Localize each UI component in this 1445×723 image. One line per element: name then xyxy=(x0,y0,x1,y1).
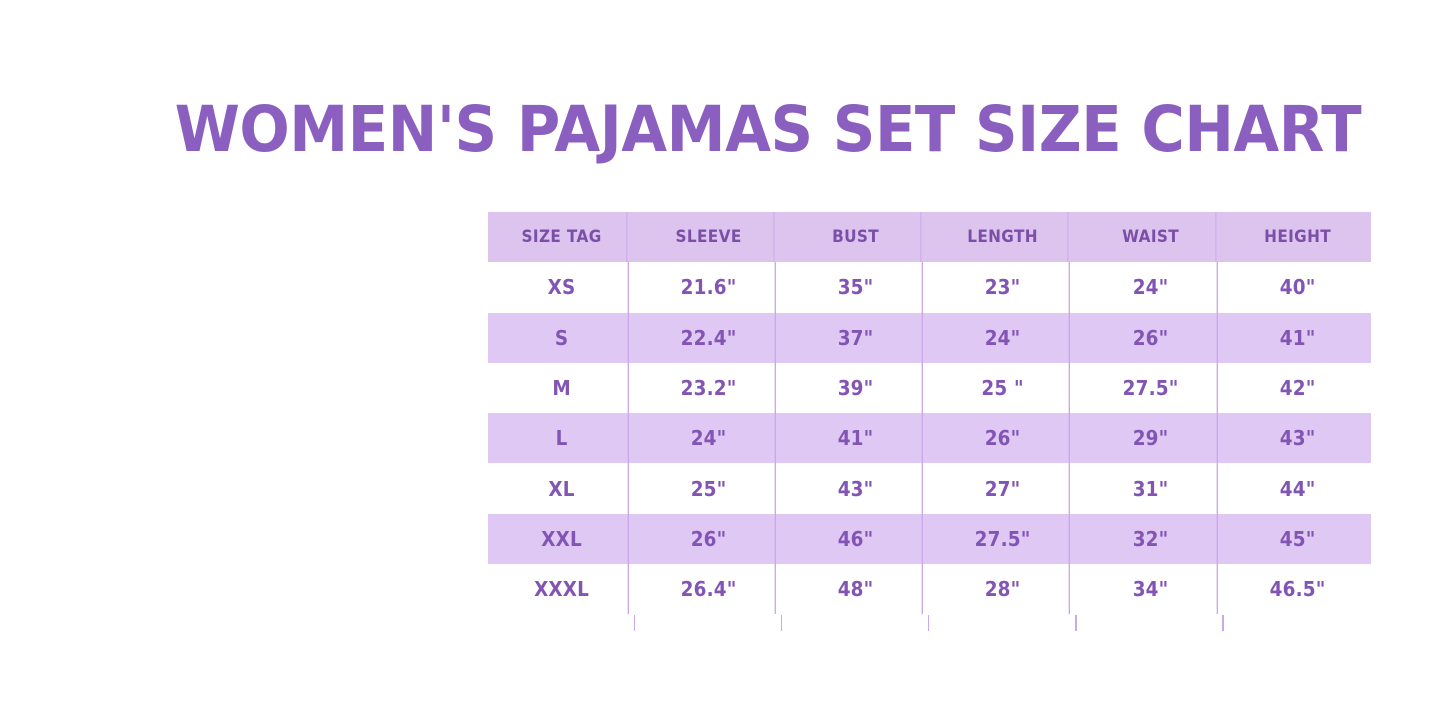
cell-sleeve: 22.4" xyxy=(641,313,776,363)
cell-bust: 39" xyxy=(788,363,923,413)
table-row: L 24" 41" 26" 29" 43" xyxy=(488,413,1371,463)
cell-waist: 32" xyxy=(1083,514,1218,564)
cell-sleeve: 26" xyxy=(641,514,776,564)
cell-sleeve: 26.4" xyxy=(641,564,776,614)
cell-size-tag: XXXL xyxy=(494,564,629,614)
cell-sleeve: 21.6" xyxy=(641,262,776,312)
column-header-waist: WAIST xyxy=(1084,212,1216,262)
cell-bust: 43" xyxy=(788,463,923,513)
cell-length: 24" xyxy=(935,313,1070,363)
cell-bust: 46" xyxy=(788,514,923,564)
column-header-length: LENGTH xyxy=(937,212,1069,262)
cell-height: 43" xyxy=(1230,413,1365,463)
cell-height: 44" xyxy=(1230,463,1365,513)
table-body: XS 21.6" 35" 23" 24" 40" S 22.4" 37" 24"… xyxy=(488,262,1371,614)
column-header-height: HEIGHT xyxy=(1231,212,1363,262)
column-header-size-tag: SIZE TAG xyxy=(495,212,627,262)
cell-bust: 48" xyxy=(788,564,923,614)
cell-bust: 35" xyxy=(788,262,923,312)
table-header: SIZE TAG SLEEVE BUST LENGTH WAIST HEIGHT xyxy=(488,212,1371,262)
cell-height: 45" xyxy=(1230,514,1365,564)
size-chart-page: WOMEN'S PAJAMAS SET SIZE CHART SIZE TAG … xyxy=(0,0,1445,723)
cell-waist: 26" xyxy=(1083,313,1218,363)
cell-length: 23" xyxy=(935,262,1070,312)
cell-length: 28" xyxy=(935,564,1070,614)
cell-length: 27.5" xyxy=(935,514,1070,564)
cell-sleeve: 24" xyxy=(641,413,776,463)
cell-size-tag: S xyxy=(494,313,629,363)
cell-height: 46.5" xyxy=(1230,564,1365,614)
cell-length: 26" xyxy=(935,413,1070,463)
cell-length: 25 " xyxy=(935,363,1070,413)
cell-bust: 37" xyxy=(788,313,923,363)
cell-size-tag: XS xyxy=(494,262,629,312)
column-header-bust: BUST xyxy=(790,212,922,262)
cell-size-tag: XXL xyxy=(494,514,629,564)
cell-bust: 41" xyxy=(788,413,923,463)
cell-size-tag: M xyxy=(494,363,629,413)
cell-sleeve: 23.2" xyxy=(641,363,776,413)
cell-size-tag: L xyxy=(494,413,629,463)
cell-waist: 27.5" xyxy=(1083,363,1218,413)
cell-height: 42" xyxy=(1230,363,1365,413)
table-row: XS 21.6" 35" 23" 24" 40" xyxy=(488,262,1371,312)
table-row: M 23.2" 39" 25 " 27.5" 42" xyxy=(488,363,1371,413)
page-title: WOMEN'S PAJAMAS SET SIZE CHART xyxy=(83,98,1380,161)
table-row: XL 25" 43" 27" 31" 44" xyxy=(488,463,1371,513)
size-chart-table-container: SIZE TAG SLEEVE BUST LENGTH WAIST HEIGHT… xyxy=(488,212,1371,614)
column-header-sleeve: SLEEVE xyxy=(643,212,775,262)
table-row: S 22.4" 37" 24" 26" 41" xyxy=(488,313,1371,363)
cell-size-tag: XL xyxy=(494,463,629,513)
cell-height: 41" xyxy=(1230,313,1365,363)
cell-height: 40" xyxy=(1230,262,1365,312)
cell-waist: 29" xyxy=(1083,413,1218,463)
header-row: SIZE TAG SLEEVE BUST LENGTH WAIST HEIGHT xyxy=(488,212,1371,262)
cell-waist: 34" xyxy=(1083,564,1218,614)
size-chart-table: SIZE TAG SLEEVE BUST LENGTH WAIST HEIGHT… xyxy=(488,212,1371,614)
cell-waist: 31" xyxy=(1083,463,1218,513)
table-row: XXXL 26.4" 48" 28" 34" 46.5" xyxy=(488,564,1371,614)
table-divider-tails xyxy=(488,615,1371,631)
cell-length: 27" xyxy=(935,463,1070,513)
cell-waist: 24" xyxy=(1083,262,1218,312)
cell-sleeve: 25" xyxy=(641,463,776,513)
table-row: XXL 26" 46" 27.5" 32" 45" xyxy=(488,514,1371,564)
